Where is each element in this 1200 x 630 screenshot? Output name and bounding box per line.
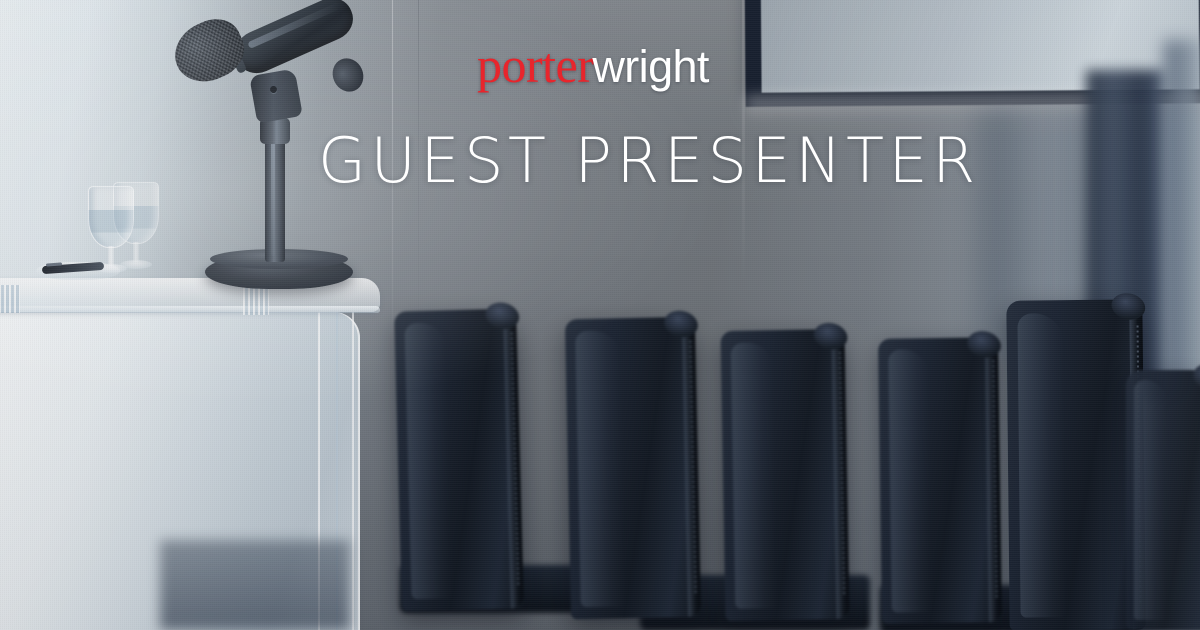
porter-wright-logo[interactable]: porterwright — [477, 40, 709, 90]
logo-word-porter: porter — [477, 37, 593, 93]
guest-presenter-banner: porterwright GUEST PRESENTER — [0, 0, 1200, 630]
logo-word-wright: wright — [592, 41, 708, 92]
page-title: GUEST PRESENTER — [318, 128, 980, 193]
text-overlay: porterwright GUEST PRESENTER — [0, 0, 1200, 630]
